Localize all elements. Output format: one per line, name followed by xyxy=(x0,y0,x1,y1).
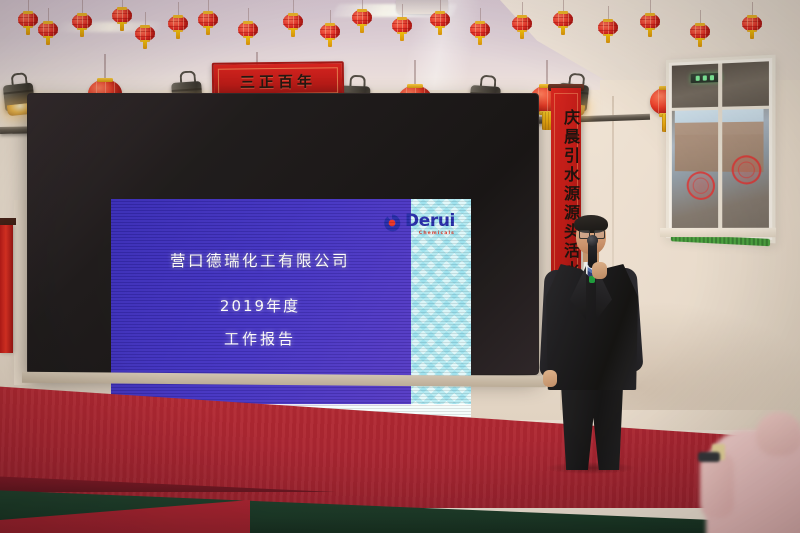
presentation-scene: 三正百年 庆晨引水源源头活水 xyxy=(0,0,800,533)
ceiling-lantern xyxy=(430,12,450,27)
ceiling-lantern xyxy=(238,22,258,37)
left-banner-rod xyxy=(0,218,16,225)
ceiling-lantern xyxy=(168,16,188,31)
derui-wordmark: Derui xyxy=(405,213,455,230)
ceiling-lantern xyxy=(742,16,762,31)
ceiling-lantern xyxy=(18,12,38,27)
derui-logo: Derui Chemicals xyxy=(382,213,455,236)
slide-year-line: 2019年度 xyxy=(135,295,385,316)
slide-report-line: 工作报告 xyxy=(135,328,385,349)
led-display-screen[interactable]: Derui Chemicals 营口德瑞化工有限公司 2019年度 工作报告 2… xyxy=(28,94,538,374)
speaker-left-hand xyxy=(543,370,557,387)
ceiling-lantern xyxy=(598,20,618,35)
left-red-banner xyxy=(0,225,13,353)
right-window xyxy=(666,55,775,244)
derui-swirl-logo-icon xyxy=(382,213,402,233)
derui-wordmark-wrap: Derui Chemicals xyxy=(405,213,455,236)
speaker-right-hand xyxy=(592,262,607,279)
ceiling-lantern xyxy=(283,14,303,29)
foreground-attendee-device xyxy=(698,452,720,462)
slide-company-name: 营口德瑞化工有限公司 xyxy=(135,249,385,271)
derui-tagline: Chemicals xyxy=(405,231,455,236)
horizontal-banner-text: 三正百年 xyxy=(214,70,342,93)
window-sill xyxy=(660,228,776,238)
ceiling-lantern xyxy=(135,26,155,41)
ceiling-lantern xyxy=(352,10,372,25)
ceiling-lantern xyxy=(512,16,532,31)
ceiling-lantern xyxy=(198,12,218,27)
ceiling-lantern xyxy=(38,22,58,37)
ceiling-lantern xyxy=(112,8,132,23)
exit-sign-icon xyxy=(691,73,722,83)
ceiling-lantern xyxy=(640,14,660,29)
speaker-shadow xyxy=(546,462,636,474)
ceiling-lantern xyxy=(553,12,573,27)
ceiling-lantern xyxy=(320,24,340,39)
ceiling-lantern xyxy=(72,14,92,29)
paper-cut-decal-left xyxy=(687,171,715,200)
paper-cut-decal-right xyxy=(732,155,762,185)
speaker-trousers xyxy=(558,380,626,470)
foreground-attendee-head xyxy=(756,412,800,456)
ceiling-lantern xyxy=(690,24,710,39)
ceiling-lantern xyxy=(470,22,490,37)
speaker-person xyxy=(536,218,648,468)
ceiling-lantern xyxy=(392,18,412,33)
window-mullion xyxy=(718,63,722,234)
